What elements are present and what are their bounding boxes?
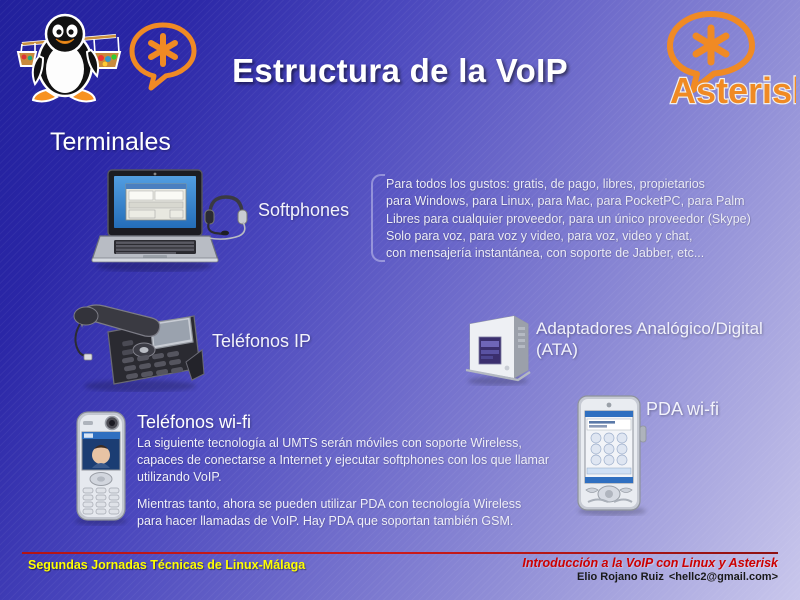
footer-event-name: Segundas Jornadas Técnicas de Linux-Mála… — [28, 558, 305, 572]
wifi-mobile-phone-image — [68, 408, 134, 526]
wifi-paragraph-1: La siguiente tecnología al UMTS serán mó… — [137, 435, 557, 485]
wifi-paragraph-2: Mientras tanto, ahora se pueden utilizar… — [137, 496, 557, 530]
label-telefonos-ip: Teléfonos IP — [212, 330, 311, 353]
ata-adapter-image — [462, 310, 536, 386]
footer-author-email: <hellc2@gmail.com> — [669, 571, 778, 583]
section-heading-terminales: Terminales — [50, 128, 171, 157]
footer-right-block: Introducción a la VoIP con Linux y Aster… — [522, 556, 778, 583]
footer-presentation-title: Introducción a la VoIP con Linux y Aster… — [522, 556, 778, 570]
label-telefonos-wifi: Teléfonos wi-fi — [137, 412, 557, 433]
pda-device-image — [568, 392, 656, 516]
brace-decoration — [371, 174, 385, 262]
desk-ip-phone-image — [66, 292, 208, 392]
footer-divider — [22, 552, 778, 554]
label-ata: Adaptadores Analógico/Digital (ATA) — [536, 318, 763, 361]
headset-icon — [200, 188, 254, 240]
presentation-slide: Asterisk Estructura de la VoIP Terminale… — [0, 0, 800, 600]
footer-author-name: Elio Rojano Ruiz — [577, 571, 664, 583]
label-pda-wifi: PDA wi-fi — [646, 398, 719, 421]
wifi-phone-text-block: Teléfonos wi-fi La siguiente tecnología … — [137, 412, 557, 530]
softphones-description: Para todos los gustos: gratis, de pago, … — [386, 176, 786, 262]
page-title: Estructura de la VoIP — [0, 52, 800, 90]
footer-author: Elio Rojano Ruiz<hellc2@gmail.com> — [522, 571, 778, 583]
label-softphones: Softphones — [258, 199, 349, 222]
